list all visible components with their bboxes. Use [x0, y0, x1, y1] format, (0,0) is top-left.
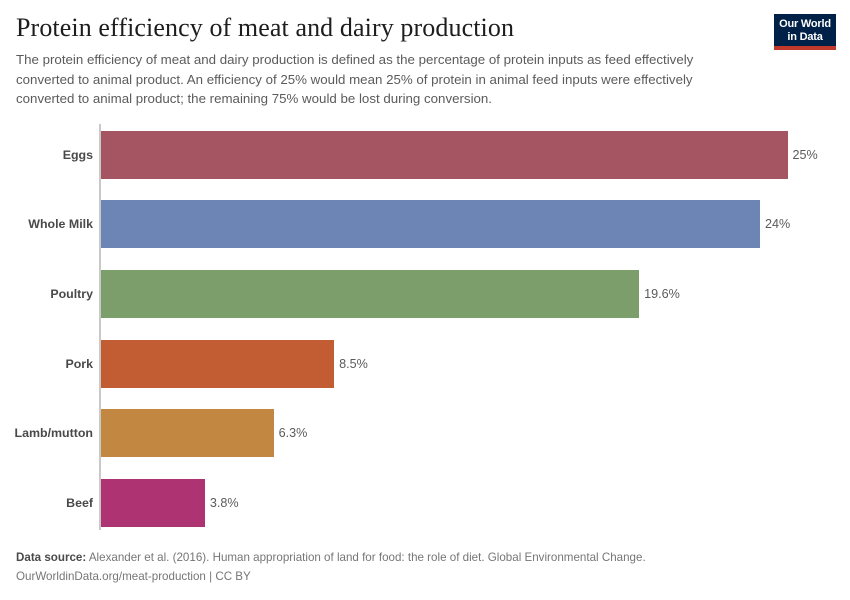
page-title: Protein efficiency of meat and dairy pro… — [16, 12, 756, 44]
bar-row: Poultry19.6% — [0, 259, 850, 329]
bar-category-label: Beef — [66, 496, 93, 510]
bar-row: Whole Milk24% — [0, 190, 850, 260]
bar-chart: Eggs25%Whole Milk24%Poultry19.6%Pork8.5%… — [0, 118, 850, 530]
chart-header: Protein efficiency of meat and dairy pro… — [16, 12, 834, 109]
bar[interactable] — [101, 200, 761, 248]
footer-source-line: Data source: Alexander et al. (2016). Hu… — [16, 548, 834, 567]
footer-attribution[interactable]: OurWorldinData.org/meat-production | CC … — [16, 567, 834, 586]
logo-line-1: Our World — [778, 18, 832, 31]
bar-row: Beef3.8% — [0, 468, 850, 538]
source-text: Alexander et al. (2016). Human appropria… — [89, 551, 646, 564]
logo-line-2: in Data — [778, 31, 832, 44]
chart-subtitle: The protein efficiency of meat and dairy… — [16, 50, 751, 109]
bar-category-label: Whole Milk — [28, 217, 93, 231]
bar-value-label: 8.5% — [339, 357, 368, 371]
bar-value-label: 19.6% — [644, 287, 680, 301]
bar[interactable] — [101, 340, 335, 388]
bar[interactable] — [101, 409, 274, 457]
chart-page: Protein efficiency of meat and dairy pro… — [0, 0, 850, 600]
bar-value-label: 25% — [793, 148, 818, 162]
our-world-in-data-logo[interactable]: Our World in Data — [774, 14, 836, 50]
bar-category-label: Eggs — [63, 148, 93, 162]
bar[interactable] — [101, 270, 640, 318]
bar-row: Lamb/mutton6.3% — [0, 398, 850, 468]
bar[interactable] — [101, 479, 205, 527]
bar-value-label: 3.8% — [210, 496, 239, 510]
bar-value-label: 6.3% — [279, 426, 308, 440]
source-label: Data source: — [16, 551, 86, 564]
bar[interactable] — [101, 131, 788, 179]
chart-footer: Data source: Alexander et al. (2016). Hu… — [16, 548, 834, 586]
bar-value-label: 24% — [765, 217, 790, 231]
bar-category-label: Lamb/mutton — [15, 426, 93, 440]
bar-row: Pork8.5% — [0, 329, 850, 399]
bar-row: Eggs25% — [0, 120, 850, 190]
bar-category-label: Pork — [65, 357, 93, 371]
bar-category-label: Poultry — [50, 287, 93, 301]
